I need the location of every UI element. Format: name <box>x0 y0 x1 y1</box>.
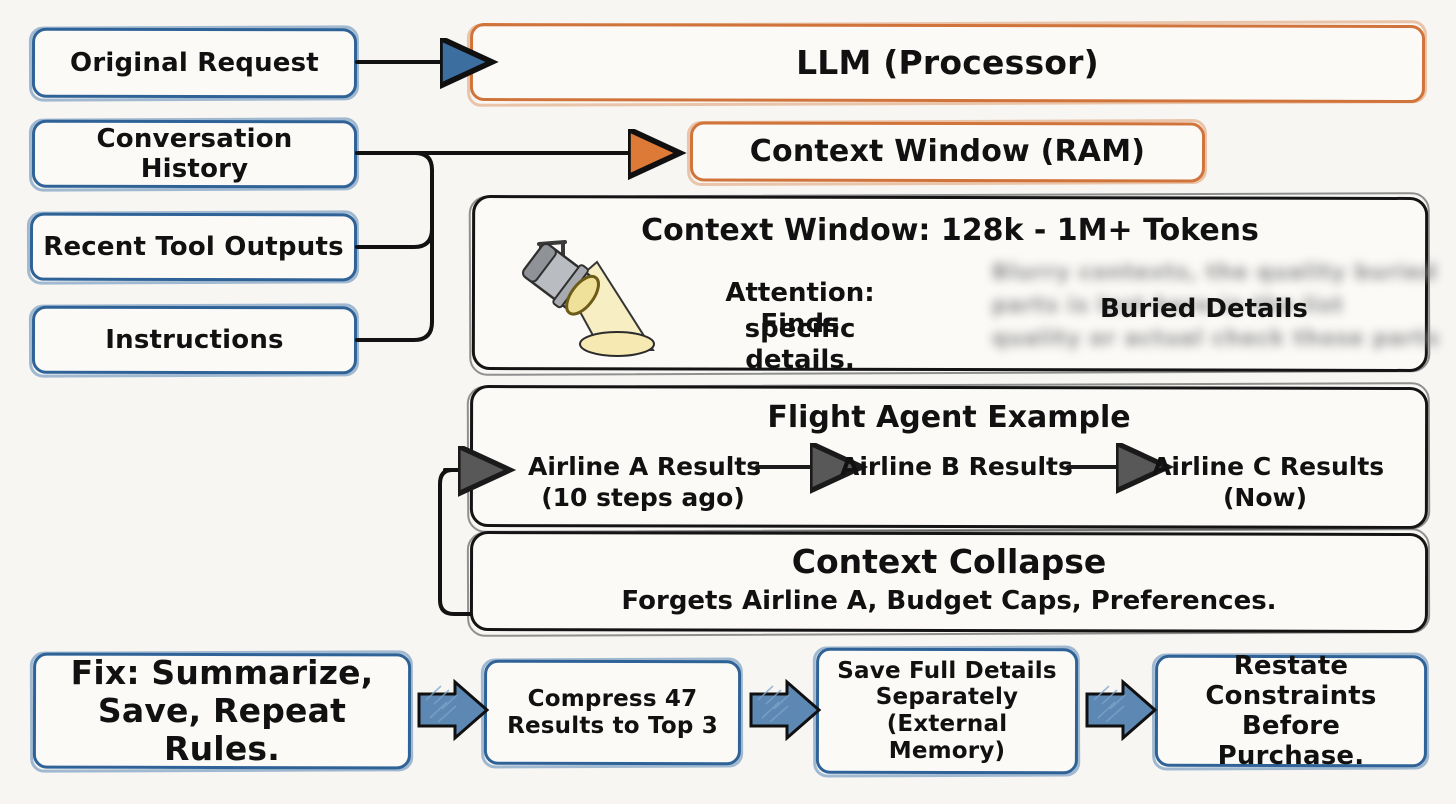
fix-box-restate-constraints[interactable]: Restate Constraints Before Purchase. <box>1155 655 1427 767</box>
fix-box-save-separately[interactable]: Save Full Details Separately (External M… <box>816 648 1078 774</box>
input-label: Original Request <box>60 48 329 78</box>
spotlight-icon <box>505 232 685 366</box>
input-label: Instructions <box>95 325 293 355</box>
fix-box-label: Fix: Summarize, Save, Repeat Rules. <box>47 654 397 769</box>
input-box-conversation-history[interactable]: Conversation History <box>32 120 357 188</box>
context-collapse-subtitle: Forgets Airline A, Budget Caps, Preferen… <box>470 586 1428 617</box>
fix-box-label: Restate Constraints Before Purchase. <box>1165 651 1417 772</box>
flight-step-c-name: Airline C Results <box>1152 452 1378 483</box>
llm-processor-label: LLM (Processor) <box>786 44 1109 82</box>
fix-box-label: Compress 47 Results to Top 3 <box>496 686 729 739</box>
fix-box-summarize[interactable]: Fix: Summarize, Save, Repeat Rules. <box>33 653 411 769</box>
fix-box-label: Save Full Details Separately (External M… <box>826 658 1068 765</box>
input-label: Conversation History <box>32 124 357 184</box>
flight-step-a-note: (10 steps ago) <box>528 483 758 514</box>
diagram-canvas: Original Request Conversation History Re… <box>0 0 1456 804</box>
buried-blurred-line3: quality or actual check those parts <box>992 321 1440 355</box>
flight-step-c-note: (Now) <box>1152 483 1378 514</box>
flight-step-b-name: Airline B Results <box>840 452 1060 483</box>
flight-step-c: Airline C Results (Now) <box>1152 452 1378 513</box>
attention-note-line2: specific details. <box>690 314 910 376</box>
context-window-ram-label: Context Window (RAM) <box>740 135 1155 170</box>
buried-blurred-line1: Blurry contexts, the quality buried <box>992 255 1437 289</box>
flight-step-b: Airline B Results <box>840 452 1060 483</box>
context-collapse-title: Context Collapse <box>470 542 1428 582</box>
flight-step-a: Airline A Results (10 steps ago) <box>528 452 758 513</box>
flight-step-a-name: Airline A Results <box>528 452 758 483</box>
input-label: Recent Tool Outputs <box>33 232 354 262</box>
flight-agent-title: Flight Agent Example <box>470 400 1428 436</box>
buried-details-label: Buried Details <box>1100 294 1308 324</box>
